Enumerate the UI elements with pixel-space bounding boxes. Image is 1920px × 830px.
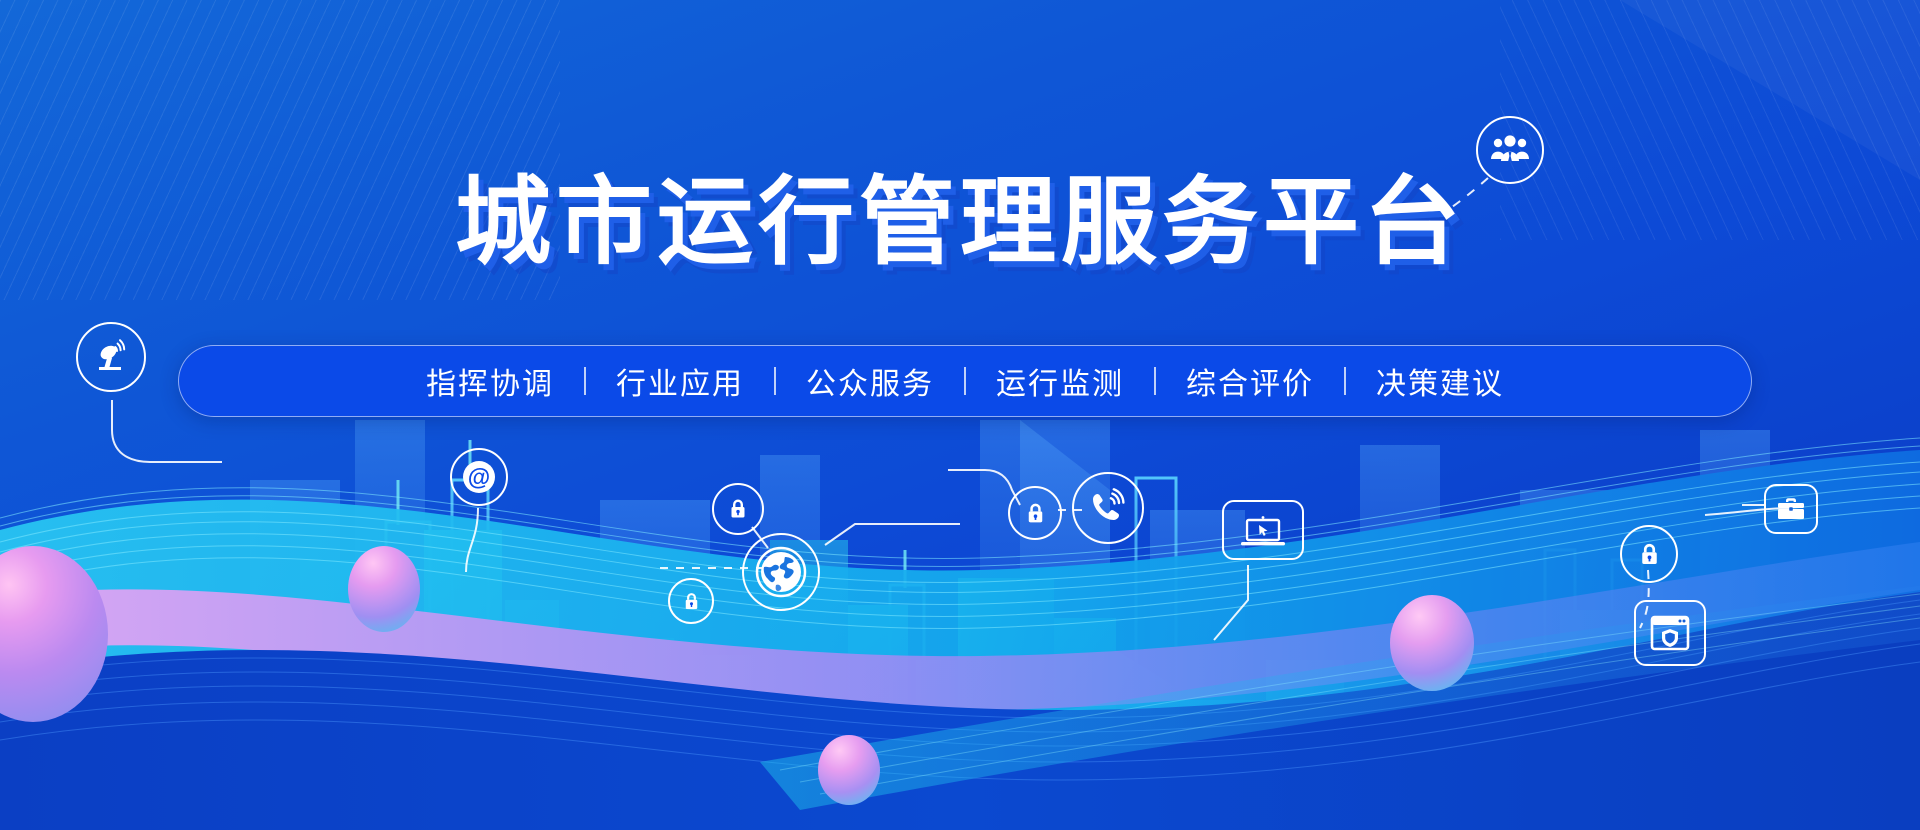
gradient-sphere [1390,595,1474,691]
page-title: 城市运行管理服务平台 [0,172,1920,274]
satellite-dish-icon[interactable] [76,322,146,392]
nav-item-command-coordination[interactable]: 指挥协调 [396,359,584,403]
gradient-sphere [348,546,420,632]
corner-wedge-decoration [1620,0,1920,180]
nav-item-comprehensive-evaluation[interactable]: 综合评价 [1156,359,1344,403]
svg-text:@: @ [468,464,490,490]
nav-item-public-service[interactable]: 公众服务 [776,359,964,403]
lock-icon[interactable] [1008,486,1062,540]
wave-decoration [0,410,1920,830]
people-group-icon[interactable] [1476,116,1544,184]
briefcase-icon[interactable] [1764,484,1818,534]
lock-icon[interactable] [712,483,764,535]
laptop-cursor-icon[interactable] [1222,500,1304,560]
at-sign-icon[interactable]: @ [450,448,508,506]
lock-icon[interactable] [668,578,714,624]
browser-shield-icon[interactable] [1634,600,1706,666]
main-navigation: 指挥协调 行业应用 公众服务 运行监测 综合评价 决策建议 [178,345,1752,417]
city-platform-banner: 城市运行管理服务平台 指挥协调 行业应用 公众服务 运行监测 综合评价 决策建议 [0,0,1920,830]
nav-item-decision-suggestion[interactable]: 决策建议 [1346,359,1534,403]
globe-icon[interactable] [742,533,820,611]
nav-item-operation-monitoring[interactable]: 运行监测 [966,359,1154,403]
lock-icon[interactable] [1620,525,1678,583]
nav-item-industry-application[interactable]: 行业应用 [586,359,774,403]
gradient-sphere [818,735,880,805]
phone-call-icon[interactable] [1072,472,1144,544]
